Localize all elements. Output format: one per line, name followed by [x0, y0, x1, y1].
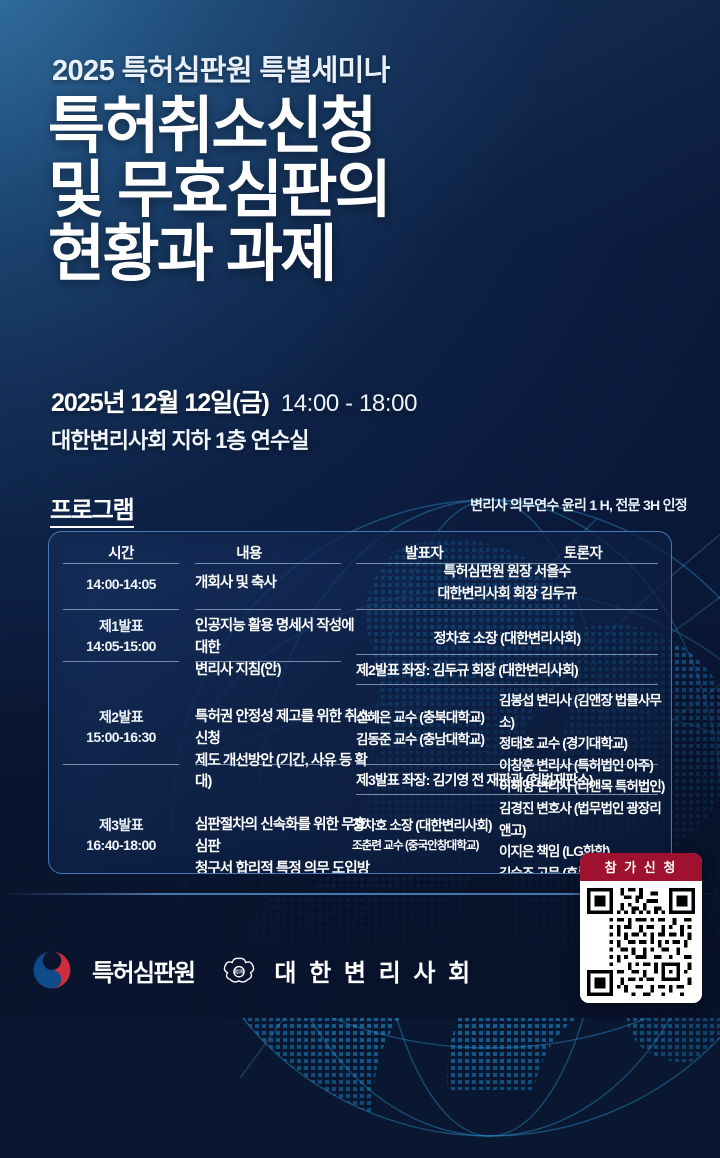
row-5-chair: 제3발표 좌장: 김기영 전 재판관 (헌법재판소): [356, 770, 593, 790]
row-2-rule-topic: [195, 661, 341, 662]
row-4-rule-speakers: [356, 764, 658, 765]
program-table-card: 시간 내용 발표자 토론자 14:00-14:05 개회사 및 축사 특허심판원…: [48, 531, 672, 874]
row-1-topic: 개회사 및 축사: [195, 573, 355, 595]
row-6-topic-line-1: 심판절차의 신속화를 위한 무효심판: [195, 815, 377, 859]
row-1-speaker-1: 특허심판원 원장 서을수: [356, 560, 658, 582]
header-rule-time: [63, 563, 179, 564]
row-2-speakers: 정차호 소장 (대한변리사회): [356, 627, 658, 649]
row-3-rule: [356, 684, 658, 685]
column-header-topic: 내용: [145, 542, 353, 563]
row-2-topic: 인공지능 활용 명세서 작성에 대한 변리사 지침(안): [195, 616, 367, 681]
title-line-2: 및 무효심판의: [48, 159, 608, 223]
kpaa-flower-emblem-icon: 韓辨: [222, 953, 256, 987]
program-table: 시간 내용 발표자 토론자 14:00-14:05 개회사 및 축사 특허심판원…: [49, 532, 671, 873]
row-2-time: 제1발표 14:05-15:00: [63, 616, 179, 657]
row-4-presenters: 신혜은 교수 (충북대학교) 김동준 교수 (충남대학교): [356, 707, 496, 750]
title-line-1: 특허취소신청: [48, 95, 608, 159]
row-1-rule-time: [63, 609, 179, 610]
row-1-time: 14:00-14:05: [63, 574, 179, 594]
event-venue: 대한변리사회 지하 1층 연수실: [51, 423, 308, 455]
org-patent-tribunal-label: 특허심판원: [92, 953, 194, 988]
row-6-time-label: 제3발표: [63, 815, 179, 835]
row-4-discussant-1: 김봉섭 변리사 (김앤장 법률사무소): [499, 690, 669, 733]
row-6-topic: 심판절차의 신속화를 위한 무효심판 청구서 합리적 특정 의무 도입방안: [195, 815, 377, 874]
header-rule-topic: [195, 563, 341, 564]
row-4-presenter-1: 신혜은 교수 (충북대학교): [356, 707, 496, 729]
row-4-presenter-2: 김동준 교수 (충남대학교): [356, 729, 496, 751]
row-2-time-range: 14:05-15:00: [63, 636, 179, 656]
row-1-speakers: 특허심판원 원장 서을수 대한변리사회 회장 김두규: [356, 560, 658, 605]
row-6-presenter-1: 정차호 소장 (대한변리사회): [352, 815, 498, 837]
row-2-topic-line-1: 인공지능 활용 명세서 작성에 대한: [195, 616, 367, 660]
poster-title: 특허취소신청 및 무효심판의 현황과 과제: [48, 95, 608, 287]
row-6-time-range: 16:40-18:00: [63, 835, 179, 855]
row-4-topic-line-1: 특허권 안정성 제고를 위한 취소신청: [195, 707, 377, 751]
row-4-discussant-2: 정태호 교수 (경기대학교): [499, 733, 669, 755]
footer-organizations: 특허심판원 韓辨 대 한 변 리 사 회: [30, 948, 473, 992]
row-2-topic-line-2: 변리사 지침(안): [195, 660, 367, 682]
program-heading: 프로그램: [50, 490, 134, 528]
row-6-topic-line-2: 청구서 합리적 특정 의무 도입방안: [195, 859, 377, 875]
row-4-time-range: 15:00-16:30: [63, 727, 179, 747]
svg-text:韓辨: 韓辨: [234, 968, 244, 975]
row-2-rule-time: [63, 661, 179, 662]
row-4-time: 제2발표 15:00-16:30: [63, 707, 179, 748]
qr-caption-banner: 참 가 신 청: [580, 853, 702, 881]
row-4-topic: 특허권 안정성 제고를 위한 취소신청 제도 개선방안 (기간, 사유 등 확대…: [195, 707, 377, 794]
event-date: 2025년 12월 12일(금): [51, 389, 269, 417]
row-4-rule-time: [63, 764, 179, 765]
title-line-3: 현황과 과제: [48, 223, 608, 287]
row-2-rule-speakers: [356, 654, 658, 655]
row-1-rule-topic: [195, 609, 341, 610]
row-4-topic-line-2: 제도 개선방안 (기간, 사유 등 확대): [195, 751, 377, 795]
event-datetime: 2025년 12월 12일(금)14:00 - 18:00: [51, 383, 417, 419]
row-1-rule-speakers: [356, 609, 658, 610]
row-4-rule-topic: [195, 764, 341, 765]
row-6-discussant-1: 김경진 변호사 (법무법인 광장리앤고): [499, 798, 671, 841]
row-2-time-label: 제1발표: [63, 616, 179, 636]
org-kpaa-label: 대 한 변 리 사 회: [274, 953, 473, 988]
program-credit-note: 변리사 의무연수 윤리 1 H, 전문 3H 인정: [470, 495, 687, 515]
qr-code-image[interactable]: [580, 881, 702, 1003]
row-3-chair: 제2발표 좌장: 김두규 회장 (대한변리사회): [356, 660, 578, 680]
registration-qr-block[interactable]: 참 가 신 청: [580, 853, 702, 1003]
row-5-rule: [356, 794, 658, 795]
event-time: 14:00 - 18:00: [281, 390, 417, 417]
row-6-presenter-2: 조춘련 교수 (중국안창대학교): [352, 837, 498, 855]
row-1-speaker-2: 대한변리사회 회장 김두규: [356, 582, 658, 604]
row-6-presenters: 정차호 소장 (대한변리사회) 조춘련 교수 (중국안창대학교): [352, 815, 498, 855]
poster-kicker: 2025 특허심판원 특별세미나: [52, 47, 390, 89]
row-6-time: 제3발표 16:40-18:00: [63, 815, 179, 856]
row-4-time-label: 제2발표: [63, 707, 179, 727]
taegeuk-logo-icon: [30, 948, 74, 992]
